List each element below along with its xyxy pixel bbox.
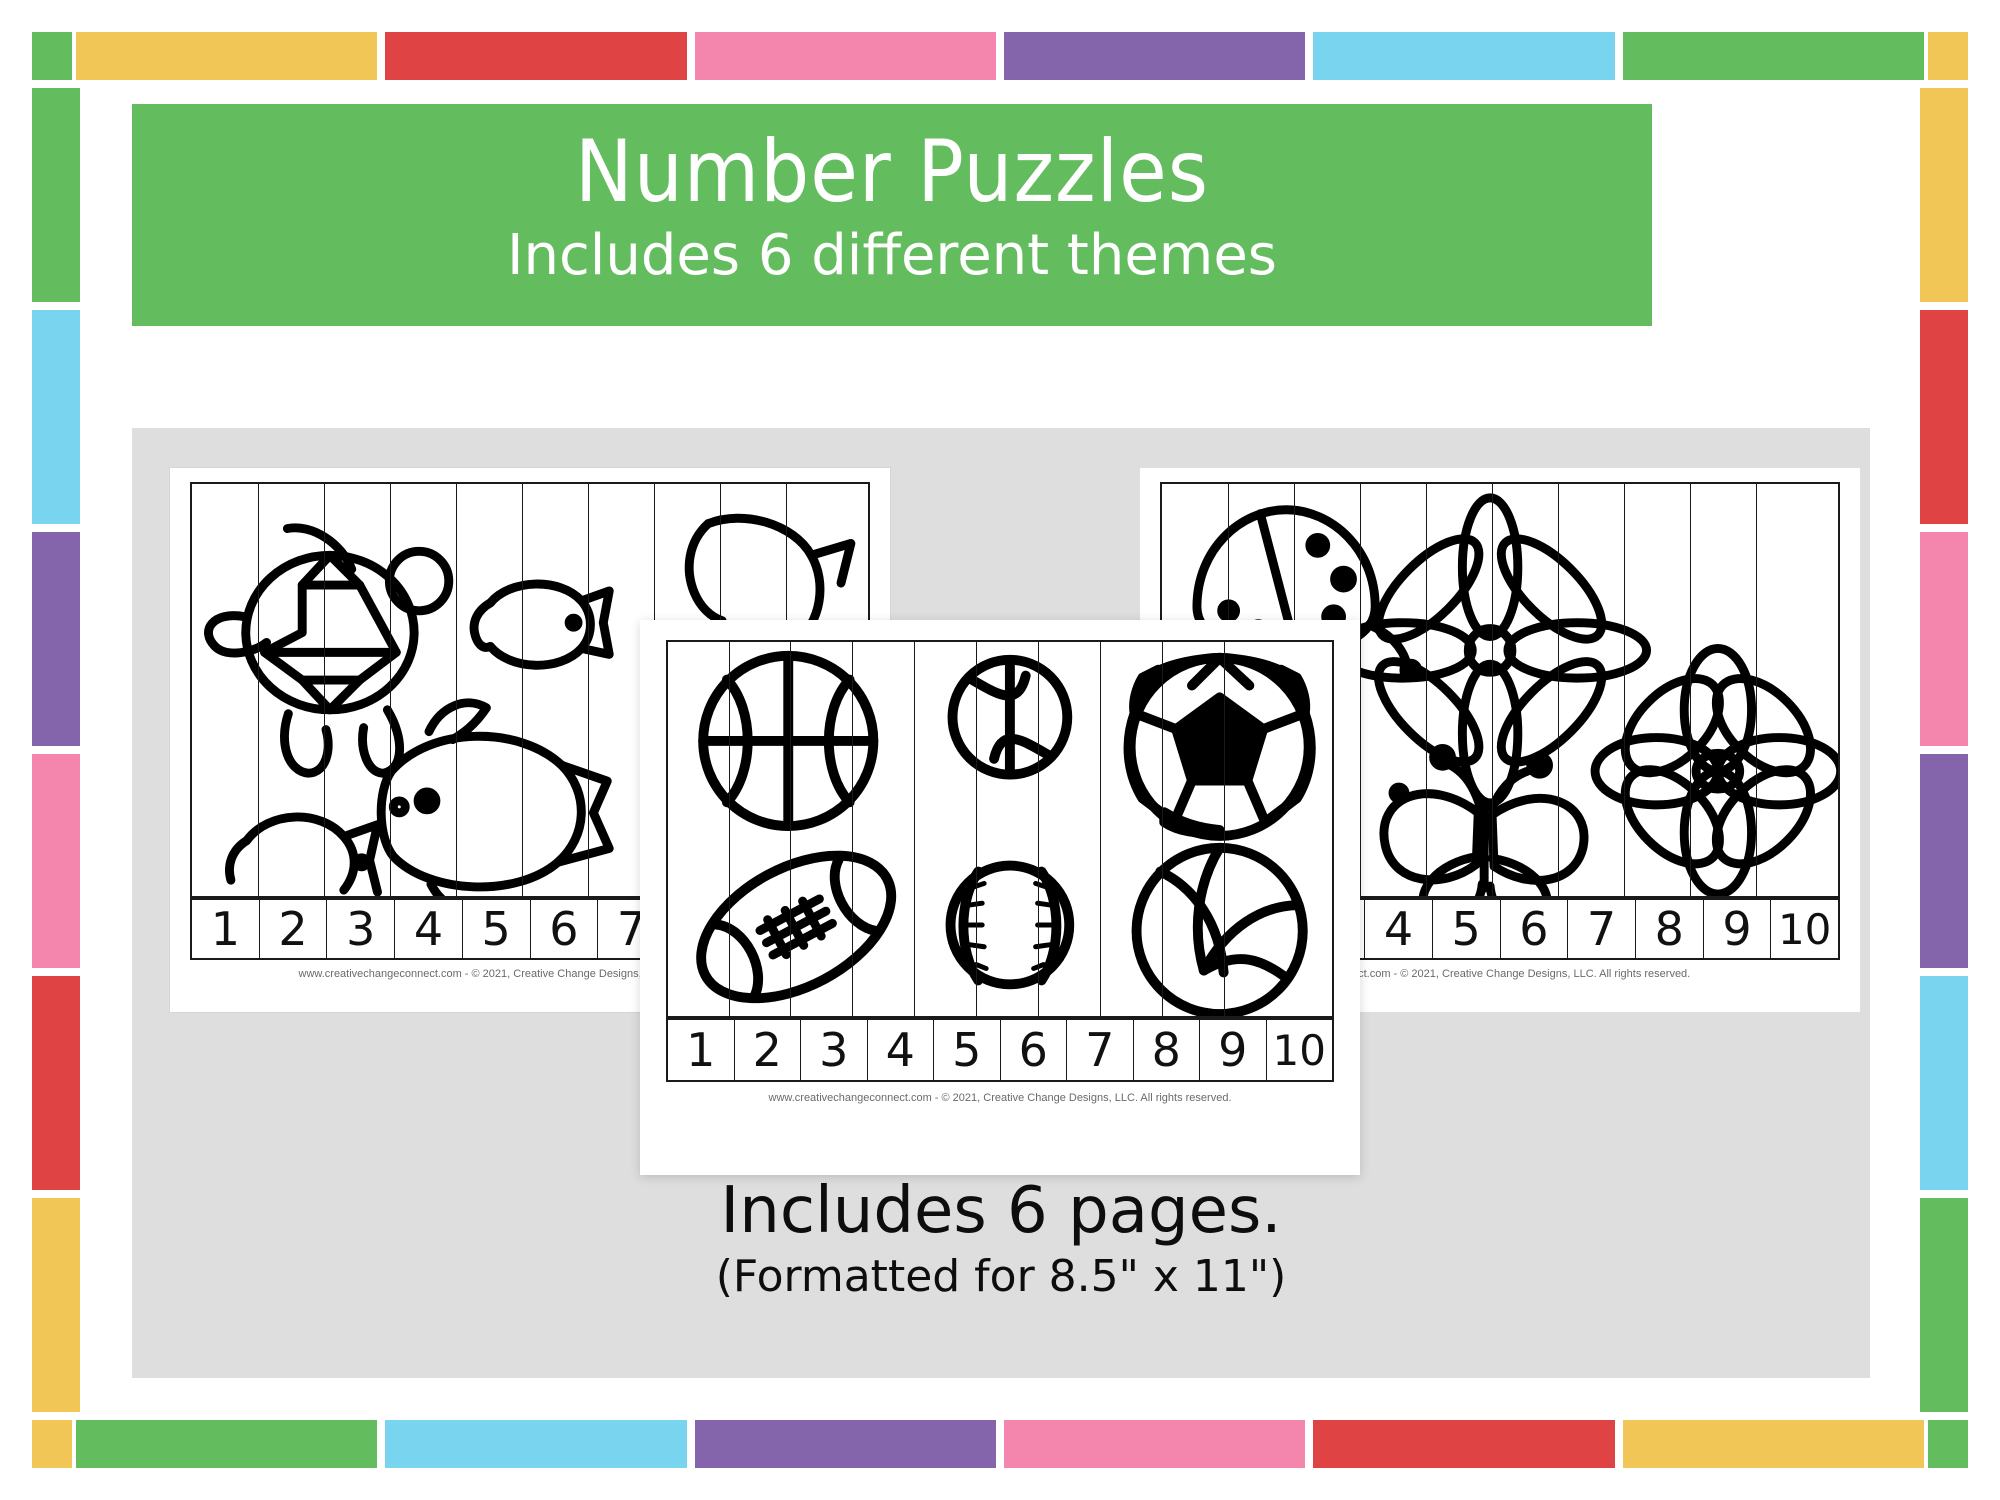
number-cell: 9 — [1200, 1020, 1267, 1080]
format-note-text: (Formatted for 8.5" x 11") — [132, 1251, 1870, 1304]
number-cell: 6 — [1501, 900, 1569, 958]
number-cell: 7 — [1568, 900, 1636, 958]
border-block-left-purple-2 — [32, 532, 80, 746]
page-subtitle: Includes 6 different themes — [132, 222, 1652, 289]
number-cell: 4 — [395, 900, 463, 958]
poster-page: Number Puzzles Includes 6 different them… — [0, 0, 2000, 1500]
sports-number-strip: 1 2 3 4 5 6 7 8 9 10 — [666, 1018, 1334, 1082]
border-block-right-pink-2 — [1920, 532, 1968, 746]
number-cell: 1 — [192, 900, 260, 958]
border-block-bottom-purple — [695, 1420, 996, 1468]
border-block-bottom-green — [76, 1420, 377, 1468]
number-cell: 2 — [735, 1020, 802, 1080]
number-cell: 4 — [868, 1020, 935, 1080]
border-block-bottom-corner-right — [1928, 1420, 1968, 1468]
number-cell: 7 — [1067, 1020, 1134, 1080]
title-banner: Number Puzzles Includes 6 different them… — [132, 104, 1652, 326]
border-block-right-purple-3 — [1920, 754, 1968, 968]
number-cell: 3 — [801, 1020, 868, 1080]
number-cell: 4 — [1365, 900, 1433, 958]
border-block-left-yellow-5 — [32, 1198, 80, 1412]
border-block-bottom-red — [1313, 1420, 1614, 1468]
number-cell: 5 — [463, 900, 531, 958]
number-cell: 5 — [934, 1020, 1001, 1080]
border-block-left-blue-1 — [32, 310, 80, 524]
page-title: Number Puzzles — [132, 124, 1652, 220]
number-cell: 10 — [1771, 900, 1838, 958]
border-block-left-green-0 — [32, 88, 80, 302]
preview-stage: 1 2 3 4 5 6 7 8 9 10 www.creativechangec… — [132, 428, 1870, 1378]
border-block-bottom-blue — [385, 1420, 686, 1468]
number-cell: 1 — [668, 1020, 735, 1080]
border-block-top-purple — [1004, 32, 1305, 80]
border-block-top-corner-right — [1928, 32, 1968, 80]
number-cell: 9 — [1704, 900, 1772, 958]
border-block-top-green — [1623, 32, 1924, 80]
border-block-left-pink-3 — [32, 754, 80, 968]
border-block-top-blue — [1313, 32, 1614, 80]
border-block-right-yellow-0 — [1920, 88, 1968, 302]
border-block-top-pink — [695, 32, 996, 80]
border-block-bottom-yellow — [1623, 1420, 1924, 1468]
sports-sheet-footer: www.creativechangeconnect.com - © 2021, … — [640, 1092, 1360, 1104]
number-cell: 2 — [260, 900, 328, 958]
border-block-top-red — [385, 32, 686, 80]
number-cell: 5 — [1433, 900, 1501, 958]
sports-artwork — [668, 642, 1332, 1016]
number-cell: 10 — [1267, 1020, 1333, 1080]
border-block-right-red-1 — [1920, 310, 1968, 524]
border-block-bottom-corner-left — [32, 1420, 72, 1468]
border-block-top-yellow — [76, 32, 377, 80]
number-cell: 3 — [327, 900, 395, 958]
includes-pages-text: Includes 6 pages. — [132, 1178, 1870, 1245]
puzzle-sheet-sports[interactable]: 1 2 3 4 5 6 7 8 9 10 www.creativechangec… — [640, 620, 1360, 1175]
number-cell: 8 — [1134, 1020, 1201, 1080]
border-block-top-corner-left — [32, 32, 72, 80]
border-block-right-blue-4 — [1920, 976, 1968, 1190]
border-block-right-green-5 — [1920, 1198, 1968, 1412]
bottom-copy-block: Includes 6 pages. (Formatted for 8.5" x … — [132, 1178, 1870, 1304]
number-cell: 6 — [531, 900, 599, 958]
number-cell: 8 — [1636, 900, 1704, 958]
border-block-bottom-pink — [1004, 1420, 1305, 1468]
border-block-left-red-4 — [32, 976, 80, 1190]
sports-puzzle-grid — [666, 640, 1334, 1018]
number-cell: 6 — [1001, 1020, 1068, 1080]
